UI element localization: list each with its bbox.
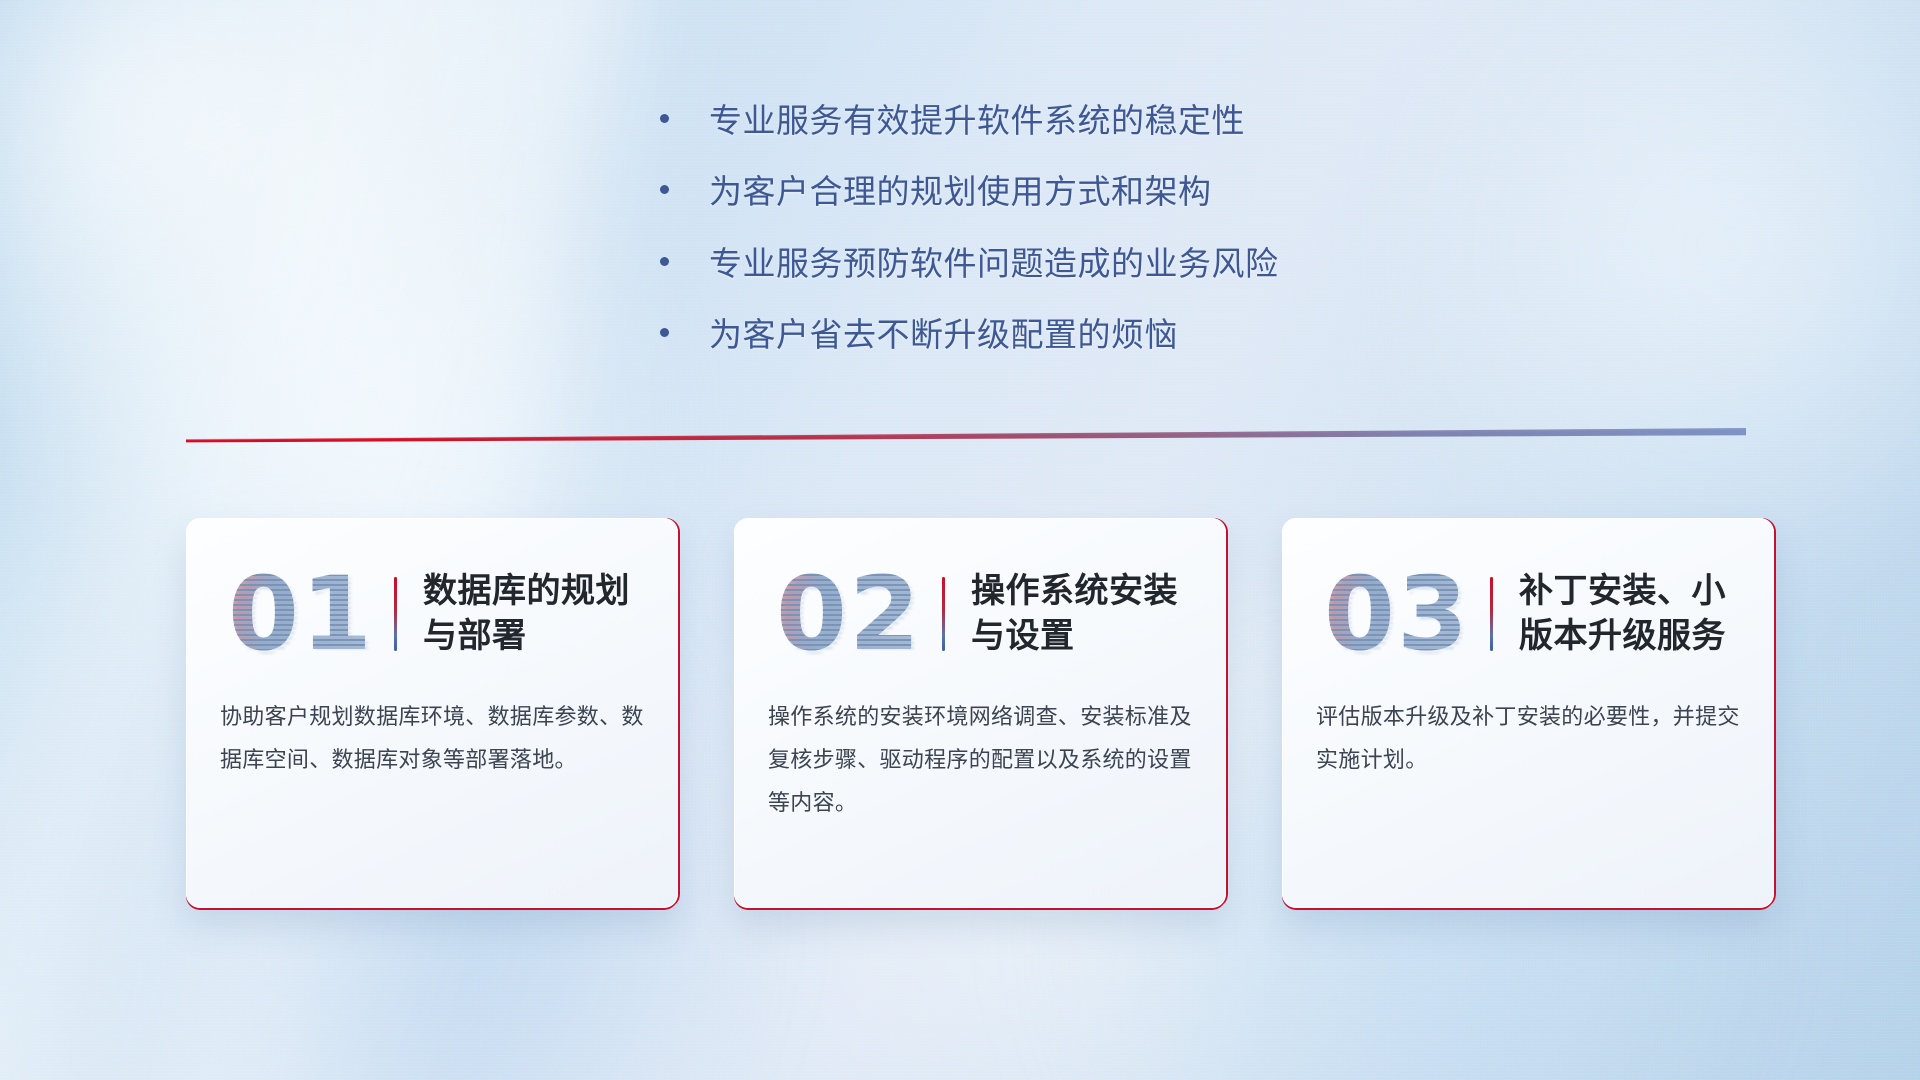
benefits-bullet-list: 专业服务有效提升软件系统的稳定性 为客户合理的规划使用方式和架构 专业服务预防软… (660, 100, 1279, 355)
accent-bar-icon (1490, 577, 1493, 651)
section-divider (186, 428, 1746, 444)
card-body-text: 协助客户规划数据库环境、数据库参数、数据库空间、数据库对象等部署落地。 (186, 678, 678, 782)
bullet-text: 专业服务有效提升软件系统的稳定性 (709, 100, 1245, 141)
card-body-text: 操作系统的安装环境网络调查、安装标准及复核步骤、驱动程序的配置以及系统的设置等内… (734, 678, 1226, 825)
service-card-02[interactable]: 02 02 操作系统安装与设置 操作系统的安装环境网络调查、安装标准及复核步骤、… (734, 518, 1226, 908)
service-card-row: 01 01 数据库的规划与部署 协助客户规划数据库环境、数据库参数、数据库空间、… (186, 518, 1774, 908)
bullet-dot-icon (660, 328, 669, 337)
accent-bar-icon (942, 577, 945, 651)
slide-content: 专业服务有效提升软件系统的稳定性 为客户合理的规划使用方式和架构 专业服务预防软… (0, 0, 1920, 1080)
divider-shape-icon (186, 428, 1746, 444)
card-header: 03 03 补丁安装、小版本升级服务 (1282, 518, 1774, 678)
card-title: 补丁安装、小版本升级服务 (1519, 569, 1748, 659)
accent-bar-icon (394, 577, 397, 651)
card-number-text: 03 (1322, 562, 1472, 666)
card-header: 01 01 数据库的规划与部署 (186, 518, 678, 678)
card-title: 数据库的规划与部署 (423, 569, 652, 659)
card-number-watermark: 01 01 (226, 562, 376, 666)
list-item: 专业服务有效提升软件系统的稳定性 (660, 100, 1279, 141)
bullet-dot-icon (660, 185, 669, 194)
card-number-watermark: 02 02 (774, 562, 924, 666)
service-card-01[interactable]: 01 01 数据库的规划与部署 协助客户规划数据库环境、数据库参数、数据库空间、… (186, 518, 678, 908)
list-item: 为客户省去不断升级配置的烦恼 (660, 314, 1279, 355)
bullet-dot-icon (660, 257, 669, 266)
card-number-text: 01 (226, 562, 376, 666)
card-title: 操作系统安装与设置 (971, 569, 1200, 659)
card-number-watermark: 03 03 (1322, 562, 1472, 666)
list-item: 专业服务预防软件问题造成的业务风险 (660, 243, 1279, 284)
bullet-text: 为客户省去不断升级配置的烦恼 (709, 314, 1178, 355)
bullet-text: 专业服务预防软件问题造成的业务风险 (709, 243, 1279, 284)
service-card-03[interactable]: 03 03 补丁安装、小版本升级服务 评估版本升级及补丁安装的必要性，并提交实施… (1282, 518, 1774, 908)
card-number-text: 02 (774, 562, 924, 666)
card-body-text: 评估版本升级及补丁安装的必要性，并提交实施计划。 (1282, 678, 1774, 782)
card-header: 02 02 操作系统安装与设置 (734, 518, 1226, 678)
list-item: 为客户合理的规划使用方式和架构 (660, 171, 1279, 212)
bullet-text: 为客户合理的规划使用方式和架构 (709, 171, 1212, 212)
bullet-dot-icon (660, 114, 669, 123)
